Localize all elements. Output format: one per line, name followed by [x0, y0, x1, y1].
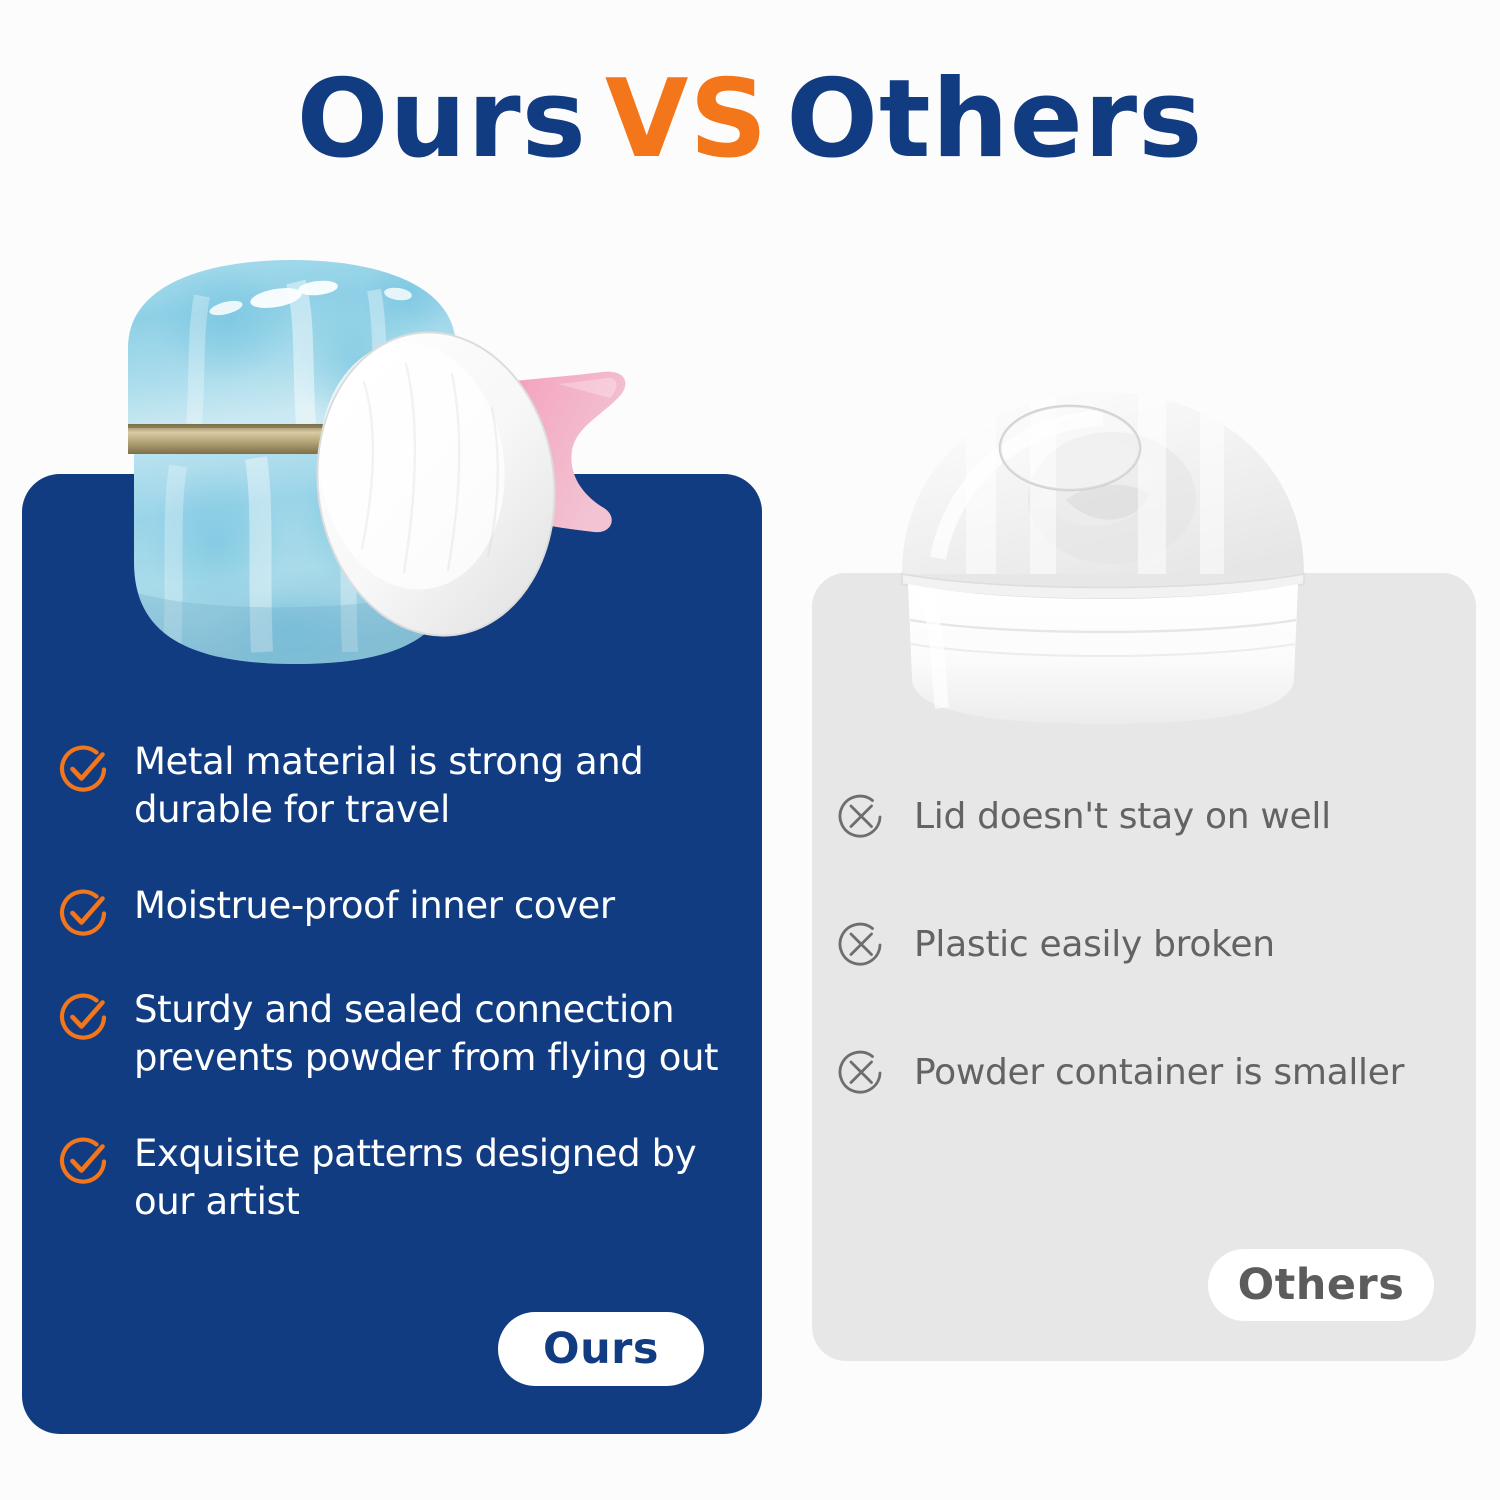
list-item: Metal material is strong and durable for…: [58, 738, 738, 834]
others-drawback-list: Lid doesn't stay on well Plastic easily …: [836, 791, 1476, 1175]
check-circle-icon: [58, 1134, 110, 1186]
list-item-label: Exquisite patterns designed by our artis…: [134, 1130, 734, 1226]
check-circle-icon: [58, 990, 110, 1042]
list-item: Sturdy and sealed connection prevents po…: [58, 986, 738, 1082]
ours-feature-list: Metal material is strong and durable for…: [58, 738, 738, 1275]
list-item-label: Sturdy and sealed connection prevents po…: [134, 986, 734, 1082]
title-word-ours: Ours: [297, 57, 587, 182]
x-circle-icon: [836, 791, 886, 841]
ours-product-image: [106, 252, 726, 702]
list-item: Exquisite patterns designed by our artis…: [58, 1130, 738, 1226]
list-item: Powder container is smaller: [836, 1047, 1476, 1097]
list-item-label: Lid doesn't stay on well: [914, 794, 1331, 839]
list-item-label: Plastic easily broken: [914, 922, 1275, 967]
x-circle-icon: [836, 1047, 886, 1097]
list-item-label: Powder container is smaller: [914, 1050, 1404, 1095]
ours-badge: Ours: [498, 1312, 704, 1386]
list-item-label: Moistrue-proof inner cover: [134, 882, 615, 930]
title-word-others: Others: [786, 57, 1203, 182]
check-circle-icon: [58, 742, 110, 794]
list-item: Moistrue-proof inner cover: [58, 882, 738, 938]
list-item: Lid doesn't stay on well: [836, 791, 1476, 841]
page-title: OursVSOthers: [0, 66, 1500, 174]
list-item: Plastic easily broken: [836, 919, 1476, 969]
x-circle-icon: [836, 919, 886, 969]
others-badge: Others: [1208, 1249, 1434, 1321]
list-item-label: Metal material is strong and durable for…: [134, 738, 734, 834]
check-circle-icon: [58, 886, 110, 938]
others-product-image: [880, 378, 1326, 740]
title-word-vs: VS: [605, 57, 768, 182]
